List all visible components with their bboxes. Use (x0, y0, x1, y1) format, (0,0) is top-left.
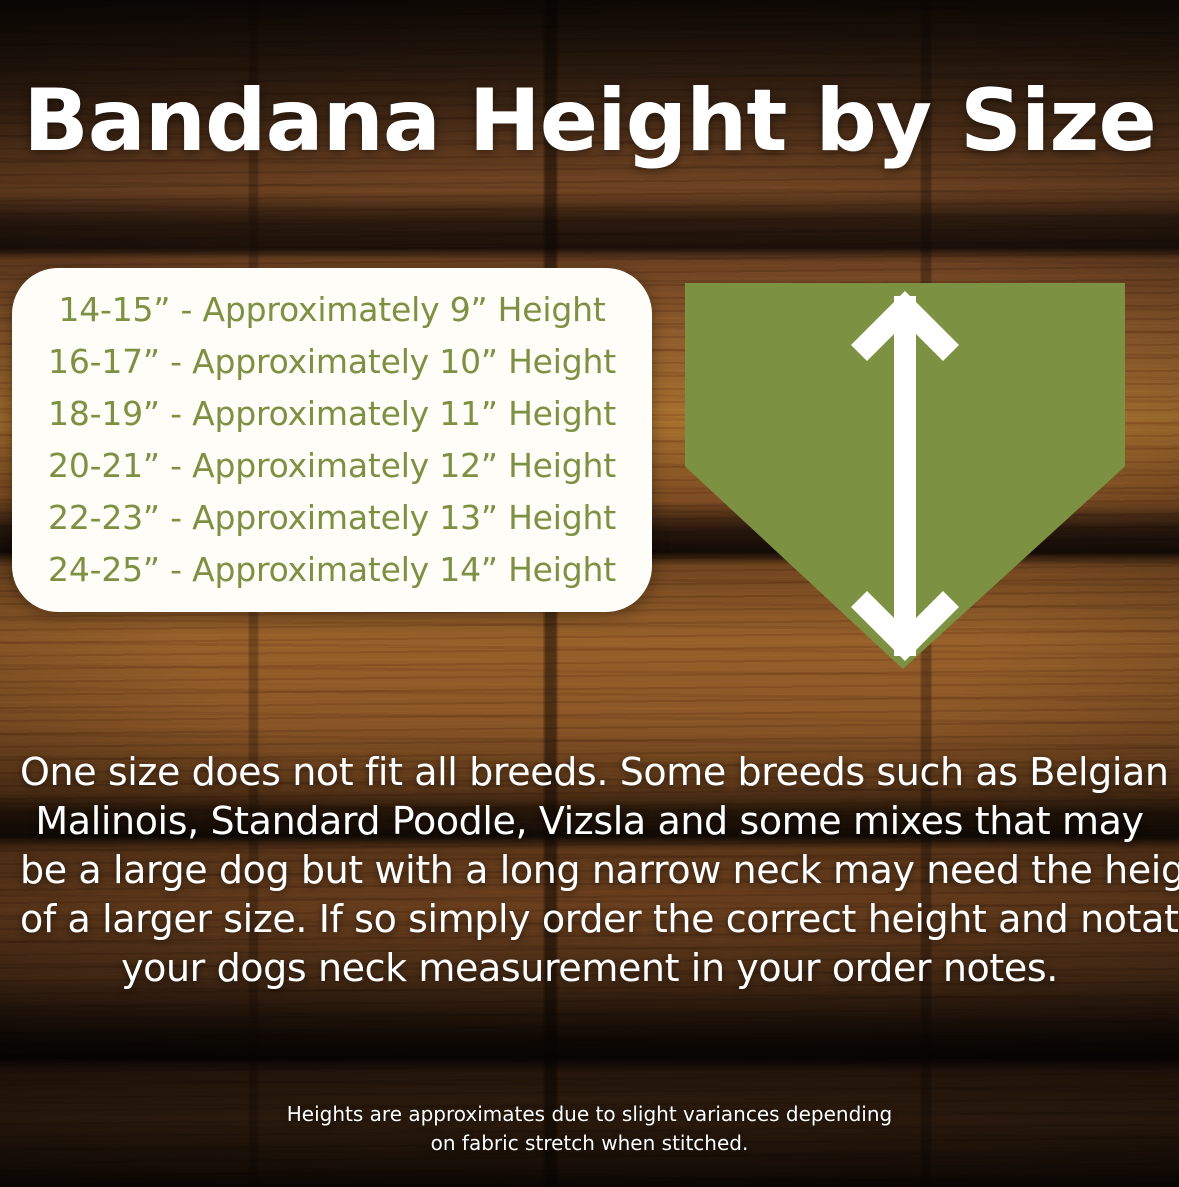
height-measure-arrow-icon (685, 283, 1125, 669)
size-chart-card: 14-15” - Approximately 9” Height 16-17” … (12, 268, 652, 612)
body-paragraph: One size does not fit all breeds. Some b… (20, 748, 1159, 993)
size-row: 22-23” - Approximately 13” Height (48, 492, 616, 544)
bandana-illustration (685, 283, 1125, 669)
body-line: your dogs neck measurement in your order… (20, 944, 1159, 993)
footer-line: Heights are approximates due to slight v… (0, 1100, 1179, 1129)
body-line: Malinois, Standard Poodle, Vizsla and so… (20, 797, 1159, 846)
page-title: Bandana Height by Size (0, 78, 1179, 164)
size-row: 14-15” - Approximately 9” Height (58, 284, 605, 336)
footer-disclaimer: Heights are approximates due to slight v… (0, 1100, 1179, 1158)
size-row: 20-21” - Approximately 12” Height (48, 440, 616, 492)
body-line: One size does not fit all breeds. Some b… (20, 748, 1159, 797)
size-row: 16-17” - Approximately 10” Height (48, 336, 616, 388)
bandana-size-poster: Bandana Height by Size 14-15” - Approxim… (0, 0, 1179, 1187)
size-row: 18-19” - Approximately 11” Height (48, 388, 616, 440)
footer-line: on fabric stretch when stitched. (0, 1129, 1179, 1158)
body-line: of a larger size. If so simply order the… (20, 895, 1159, 944)
size-row: 24-25” - Approximately 14” Height (48, 544, 616, 596)
body-line: be a large dog but with a long narrow ne… (20, 846, 1159, 895)
